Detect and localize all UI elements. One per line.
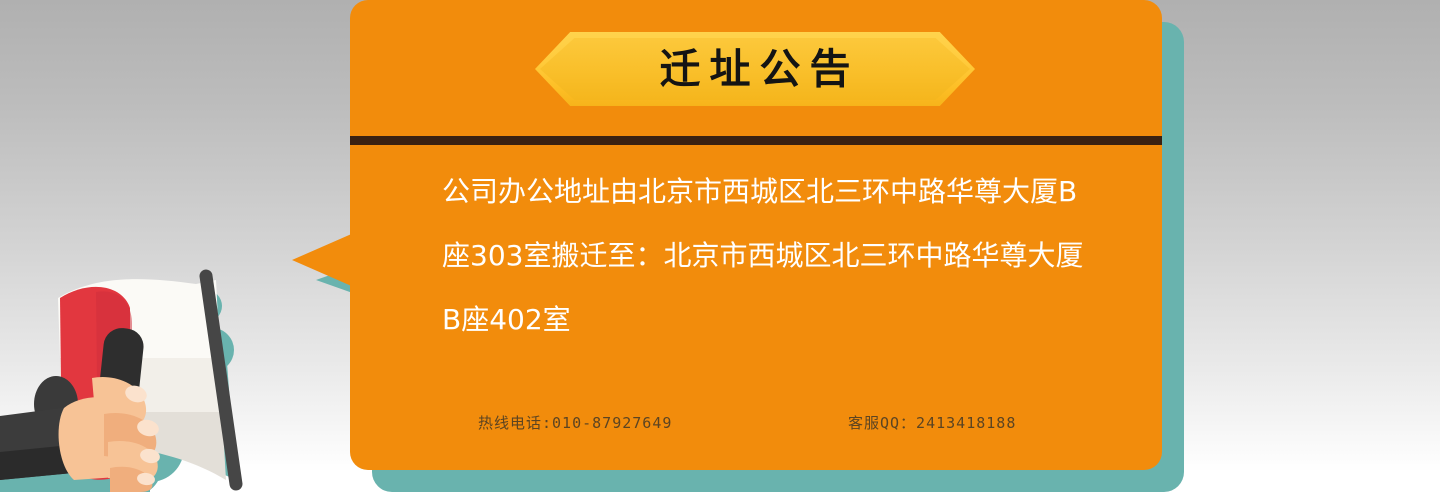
hotline-phone: 热线电话:010-87927649 — [478, 412, 672, 433]
announcement-banner: 迁址公告 公司办公地址由北京市西城区北三环中路华尊大厦B座303室搬迁至：北京市… — [0, 0, 1440, 492]
contact-footer: 热线电话:010-87927649 客服QQ：2413418188 — [350, 404, 1162, 438]
announcement-card: 迁址公告 公司办公地址由北京市西城区北三环中路华尊大厦B座303室搬迁至：北京市… — [350, 0, 1162, 470]
speech-tail — [292, 232, 356, 288]
section-divider — [350, 136, 1162, 145]
announcement-body: 公司办公地址由北京市西城区北三环中路华尊大厦B座303室搬迁至：北京市西城区北三… — [442, 160, 1102, 352]
megaphone-icon — [0, 180, 320, 492]
service-qq: 客服QQ：2413418188 — [848, 412, 1016, 433]
title-ribbon: 迁址公告 — [535, 32, 975, 106]
page-title: 迁址公告 — [535, 32, 975, 106]
